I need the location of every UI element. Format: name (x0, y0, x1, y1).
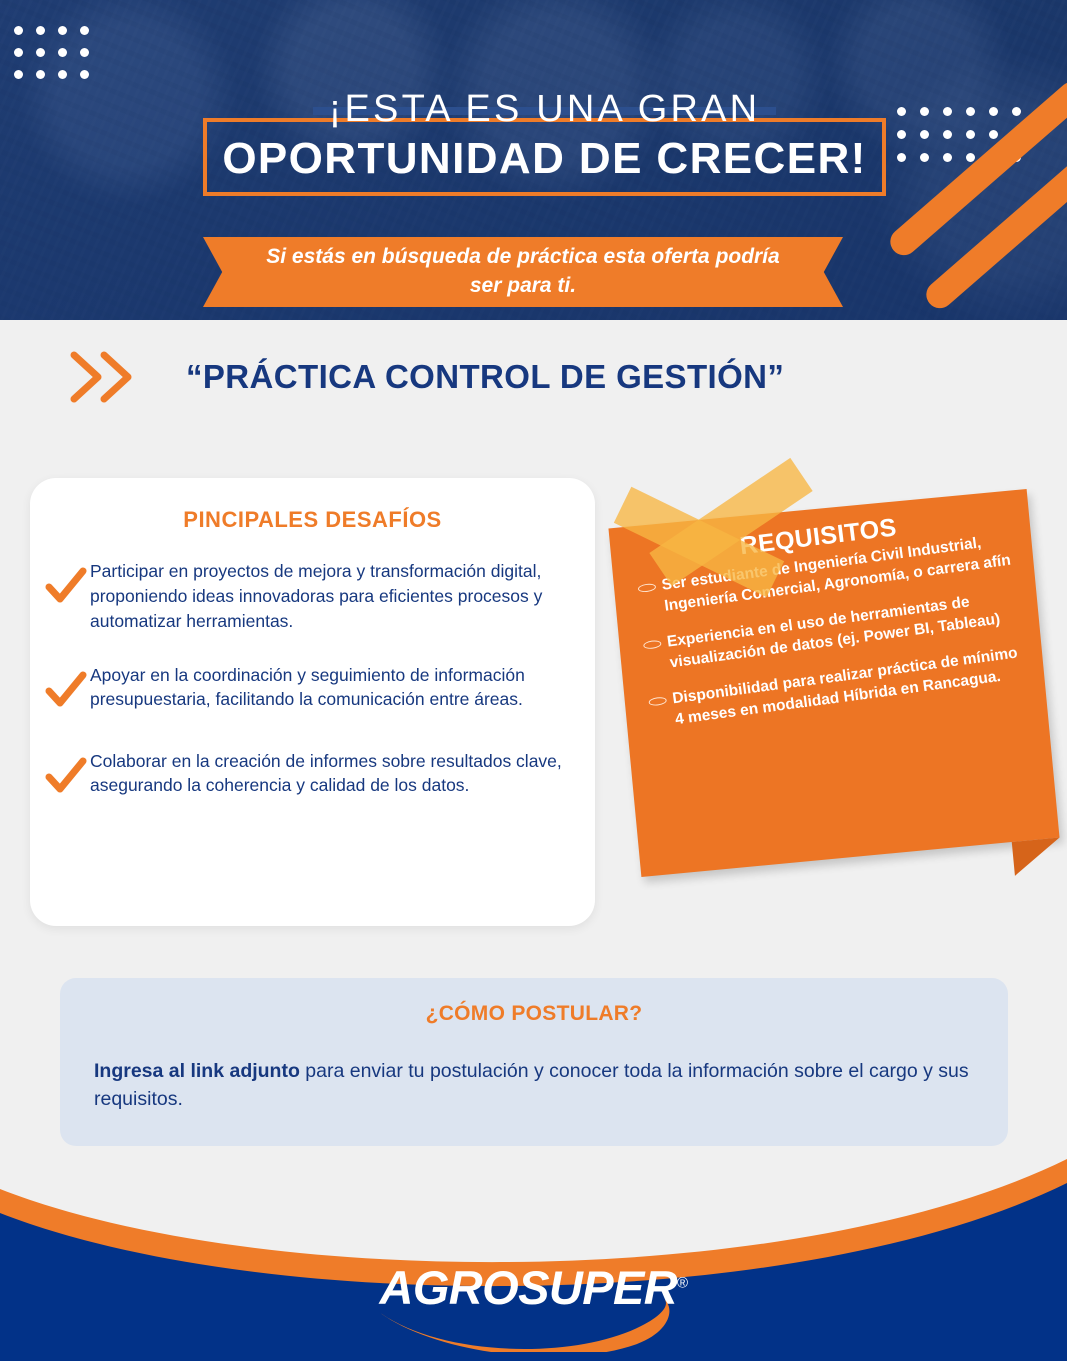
hero-title-line-2: OPORTUNIDAD DE CRECER! (203, 134, 886, 184)
list-item: Apoyar en la coordinación y seguimiento … (44, 663, 571, 715)
apply-heading: ¿CÓMO POSTULAR? (94, 1002, 974, 1026)
list-item: Participar en proyectos de mejora y tran… (44, 559, 571, 634)
requirements-card: REQUISITOS Ser estudiante de Ingeniería … (608, 466, 1063, 896)
list-item-text: Apoyar en la coordinación y seguimiento … (88, 663, 571, 713)
hero-banner: ¡ESTA ES UNA GRAN OPORTUNIDAD DE CRECER!… (0, 0, 1067, 320)
circle-outline-bullet-icon (638, 583, 657, 593)
challenges-list: Participar en proyectos de mejora y tran… (30, 533, 595, 801)
list-item-text: Colaborar en la creación de informes sob… (88, 749, 571, 799)
check-icon (44, 567, 88, 611)
brand-logo: AGROSUPER® (0, 1260, 1067, 1315)
check-icon (44, 757, 88, 801)
hero-ribbon-text: Si estás en búsqueda de práctica esta of… (261, 243, 785, 300)
poster-root: ¡ESTA ES UNA GRAN OPORTUNIDAD DE CRECER!… (0, 0, 1067, 1361)
challenges-card: PINCIPALES DESAFÍOS Participar en proyec… (30, 478, 595, 926)
apply-link-label[interactable]: Ingresa al link adjunto (94, 1060, 300, 1082)
apply-box: ¿CÓMO POSTULAR? Ingresa al link adjunto … (60, 978, 1008, 1146)
double-chevron-right-icon (68, 349, 140, 405)
card-fold-corner-icon (1012, 837, 1063, 875)
hero-ribbon: Si estás en búsqueda de práctica esta of… (203, 237, 843, 307)
hero-title-line-1: ¡ESTA ES UNA GRAN (313, 90, 777, 128)
circle-outline-bullet-icon (643, 640, 662, 650)
page-title: “PRÁCTICA CONTROL DE GESTIÓN” (186, 358, 784, 396)
job-title-row: “PRÁCTICA CONTROL DE GESTIÓN” (0, 336, 1067, 418)
check-icon (44, 671, 88, 715)
footer: AGROSUPER® (0, 1141, 1067, 1361)
list-item-text: Participar en proyectos de mejora y tran… (88, 559, 571, 634)
apply-body: Ingresa al link adjunto para enviar tu p… (94, 1058, 974, 1113)
registered-mark: ® (677, 1274, 687, 1291)
list-item: Colaborar en la creación de informes sob… (44, 749, 571, 801)
swoosh-icon (369, 1294, 699, 1352)
hero-title-block: ¡ESTA ES UNA GRAN OPORTUNIDAD DE CRECER! (203, 90, 886, 184)
dot-grid-left-icon (14, 26, 89, 79)
circle-outline-bullet-icon (648, 697, 667, 707)
challenges-heading: PINCIPALES DESAFÍOS (30, 478, 595, 533)
